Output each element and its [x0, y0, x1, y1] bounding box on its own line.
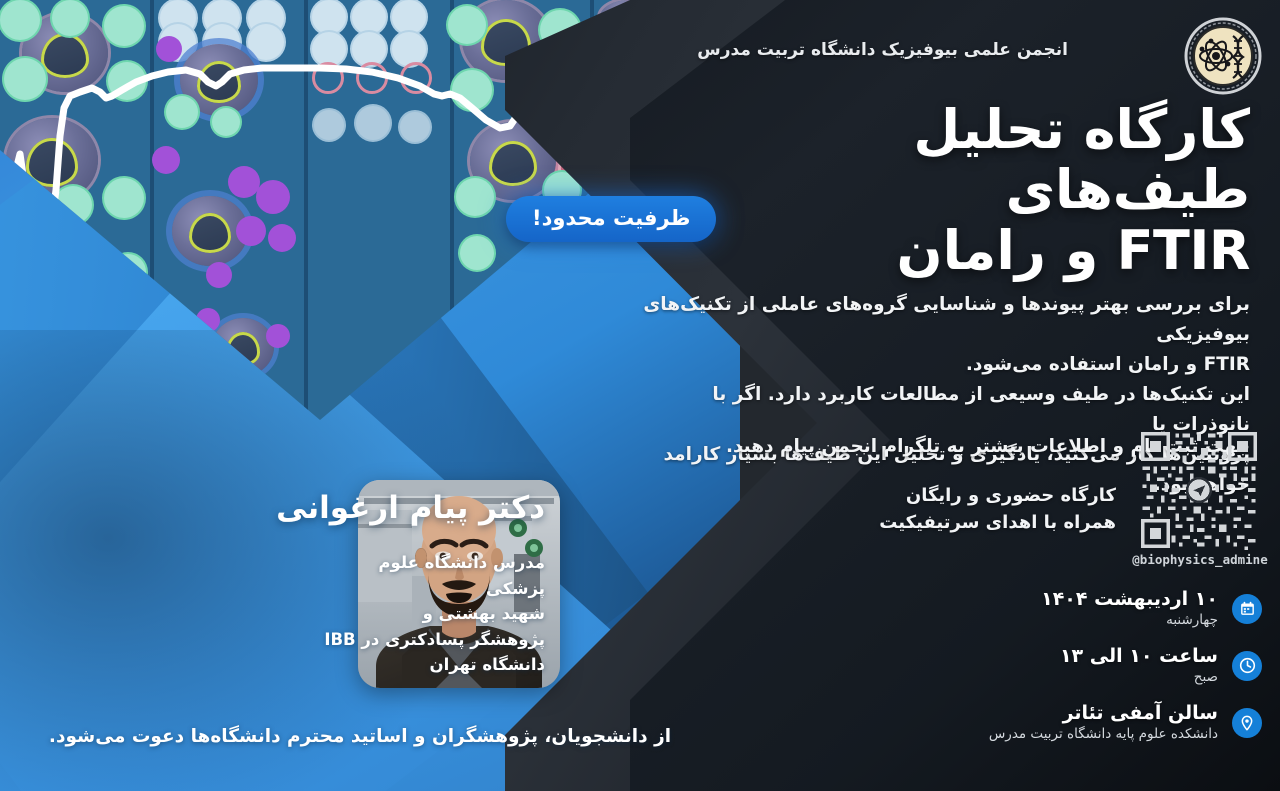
info-row-time: ساعت ۱۰ الی ۱۳ صبح: [1060, 645, 1262, 686]
affiliation-line-2: شهید بهشتی و: [315, 601, 545, 627]
affiliation-line-1: مدرس دانشگاه علوم پزشکی: [315, 550, 545, 601]
condition-line-1: کارگاه حضوری و رایگان: [796, 482, 1116, 509]
calendar-icon: [1232, 594, 1262, 624]
page-title: کارگاه تحلیل طیف‌های FTIR و رامان: [690, 100, 1250, 281]
date-main: ۱۰ اردیبهشت ۱۴۰۴: [1041, 588, 1218, 611]
time-main: ساعت ۱۰ الی ۱۳: [1060, 645, 1218, 668]
title-line-2: FTIR و رامان: [690, 221, 1250, 281]
info-row-date: ۱۰ اردیبهشت ۱۴۰۴ چهارشنبه: [1041, 588, 1262, 629]
description-p1-line1: برای بررسی بهتر پیوندها و شناسایی گروه‌ه…: [630, 290, 1250, 350]
place-sub: دانشکده علوم پایه دانشگاه تربیت مدرس: [989, 725, 1218, 743]
location-pin-icon: [1232, 708, 1262, 738]
atom-dna-logo-icon: [1183, 16, 1263, 96]
description-p1-line2: FTIR و رامان استفاده می‌شود.: [630, 350, 1250, 380]
clock-icon: [1232, 651, 1262, 681]
workshop-poster: انجمن علمی بیوفیزیک دانشگاه تربیت مدرس ک…: [0, 0, 1280, 791]
condition-line-2: همراه با اهدای سرتیفیکیت: [796, 509, 1116, 536]
title-line-1: کارگاه تحلیل طیف‌های: [690, 100, 1250, 221]
speaker-affiliation: مدرس دانشگاه علوم پزشکی شهید بهشتی و پژو…: [315, 550, 545, 678]
speaker-name: دکتر پیام ارغوانی: [285, 490, 545, 526]
invitation-text: از دانشجویان، پژوهشگران و اساتید محترم د…: [0, 726, 720, 747]
telegram-qr-code[interactable]: [1133, 430, 1265, 550]
place-main: سالن آمفی تئاتر: [989, 702, 1218, 725]
info-date-text: ۱۰ اردیبهشت ۱۴۰۴ چهارشنبه: [1041, 588, 1218, 629]
affiliation-line-3: پژوهشگر پسادکتری در IBB: [315, 627, 545, 653]
association-name: انجمن علمی بیوفیزیک دانشگاه تربیت مدرس: [697, 40, 1068, 60]
info-row-place: سالن آمفی تئاتر دانشکده علوم پایه دانشگا…: [989, 702, 1262, 743]
info-place-text: سالن آمفی تئاتر دانشکده علوم پایه دانشگا…: [989, 702, 1218, 743]
info-time-text: ساعت ۱۰ الی ۱۳ صبح: [1060, 645, 1218, 686]
limited-capacity-badge: ظرفیت محدود!: [506, 196, 716, 242]
workshop-conditions: کارگاه حضوری و رایگان همراه با اهدای سرت…: [796, 482, 1116, 536]
date-sub: چهارشنبه: [1041, 611, 1218, 629]
time-sub: صبح: [1060, 668, 1218, 686]
telegram-handle[interactable]: @biophysics_admine: [1120, 552, 1280, 567]
affiliation-line-4: دانشگاه تهران: [315, 652, 545, 678]
